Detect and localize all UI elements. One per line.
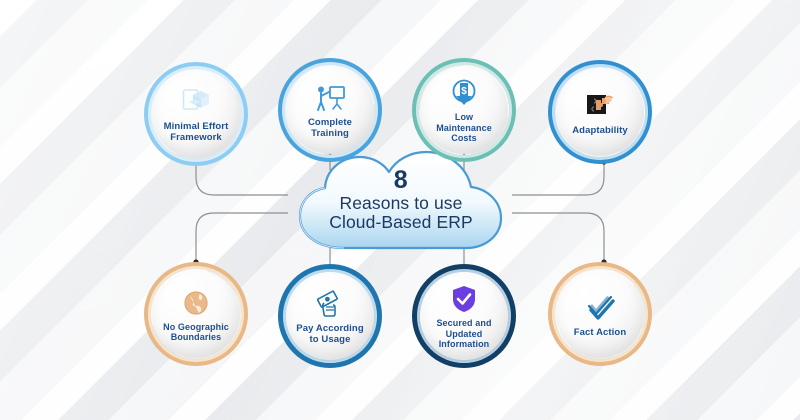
center-cloud: 8 Reasons to use Cloud-Based ERP [282, 148, 520, 258]
globe-icon [182, 288, 210, 318]
node-complete-training[interactable]: Complete Training [278, 58, 382, 162]
node-label: Fact Action [554, 327, 646, 338]
node-label: Pay According to Usage [284, 323, 376, 345]
node-disc: Minimal Effort Framework [152, 70, 240, 158]
node-disc: Fact Action [556, 270, 644, 358]
node-label: Adaptability [554, 125, 646, 136]
double-check-icon [585, 293, 615, 323]
node-label: Minimal Effort Framework [150, 121, 242, 143]
dollar-down-arrow-icon: $ [449, 78, 479, 108]
node-label: Secured and Updated Information [418, 318, 510, 350]
infographic-canvas: 8 Reasons to use Cloud-Based ERP Minimal… [0, 0, 800, 420]
node-label: Complete Training [284, 117, 376, 139]
cloud-line-1: Reasons to use [339, 194, 462, 213]
node-disc: Pay According to Usage [286, 272, 374, 360]
node-fact-action[interactable]: Fact Action [548, 262, 652, 366]
node-disc: $ Low Maintenance Costs [420, 66, 508, 154]
node-label: No Geographic Boundaries [150, 322, 242, 343]
banknote-hand-icon [315, 289, 345, 319]
cube-blocks-icon [181, 87, 211, 117]
node-label: Low Maintenance Costs [418, 112, 510, 144]
node-low-maintenance-costs[interactable]: $ Low Maintenance Costs [412, 58, 516, 162]
node-disc: Adaptability [556, 68, 644, 156]
puzzle-piece-hand-icon [584, 91, 616, 121]
trainer-whiteboard-icon [314, 83, 346, 113]
svg-text:$: $ [461, 86, 467, 97]
node-pay-according-to-usage[interactable]: Pay According to Usage [278, 264, 382, 368]
node-minimal-effort-framework[interactable]: Minimal Effort Framework [144, 62, 248, 166]
node-no-geographic-boundaries[interactable]: No Geographic Boundaries [144, 262, 248, 366]
node-secured-and-updated-information[interactable]: Secured and Updated Information [412, 264, 516, 368]
node-disc: Complete Training [286, 66, 374, 154]
shield-check-icon [451, 284, 477, 314]
cloud-line-2: Cloud-Based ERP [329, 213, 473, 232]
node-disc: No Geographic Boundaries [152, 270, 240, 358]
node-disc: Secured and Updated Information [420, 272, 508, 360]
node-adaptability[interactable]: Adaptability [548, 60, 652, 164]
cloud-number: 8 [394, 169, 408, 191]
